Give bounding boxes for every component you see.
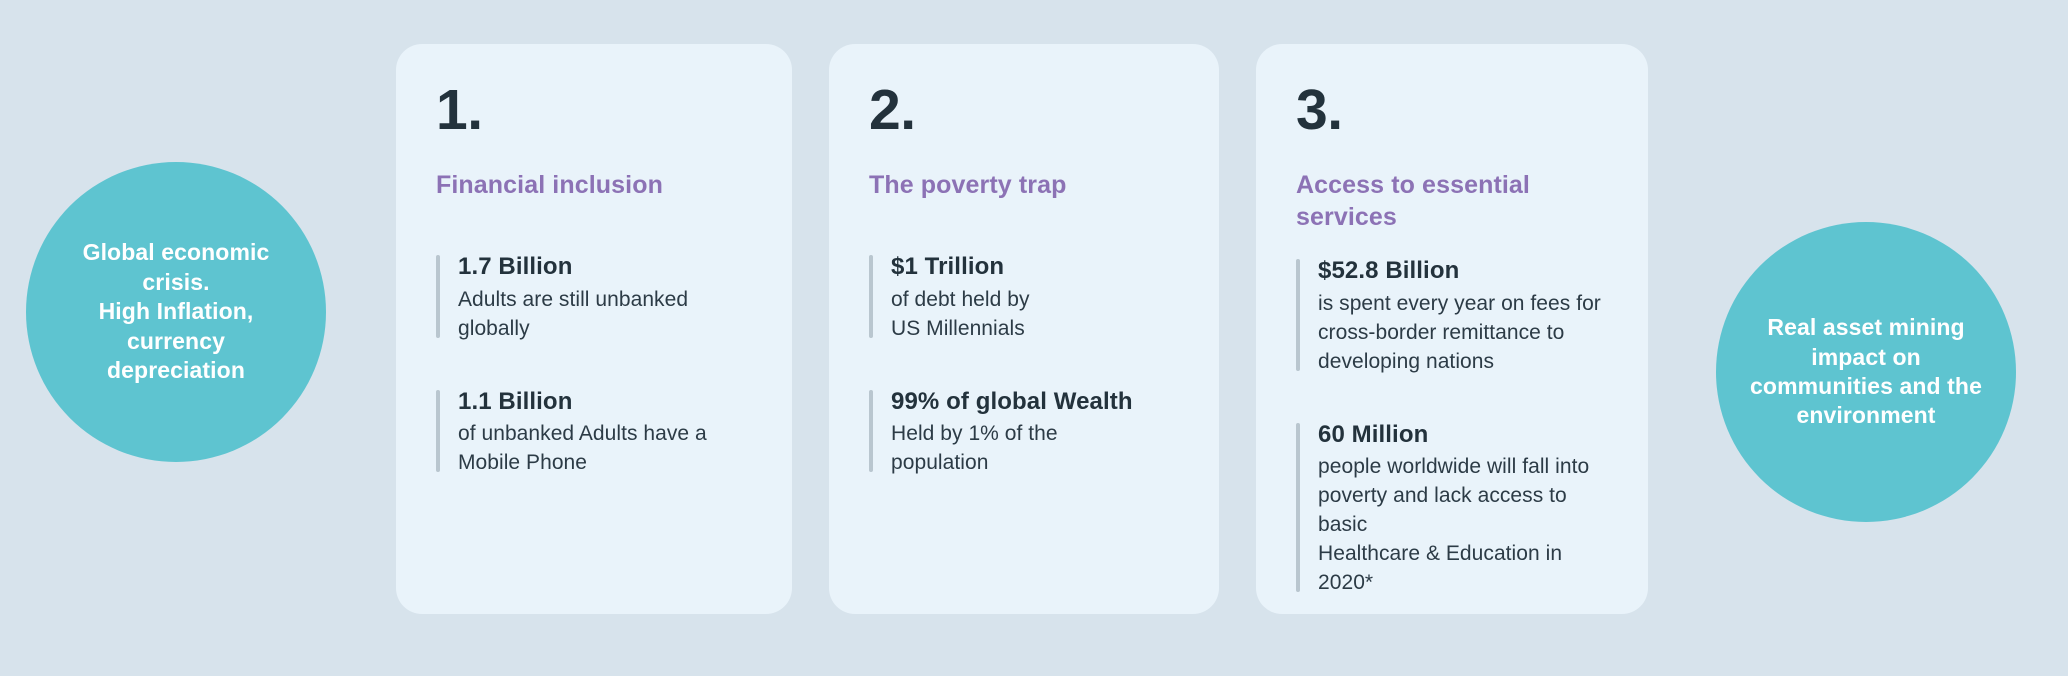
stat-value: 1.7 Billion	[458, 251, 752, 283]
stat-value: 60 Million	[1318, 419, 1608, 451]
card-access-essential-services: 3. Access to essential services $52.8 Bi…	[1256, 44, 1648, 614]
card-title: The poverty trap	[869, 169, 1179, 201]
stat-value: 1.1 Billion	[458, 386, 752, 418]
stat-description: of unbanked Adults have a Mobile Phone	[458, 420, 752, 478]
stat-item: 99% of global Wealth Held by 1% of the p…	[869, 386, 1179, 479]
card-number: 1.	[436, 82, 752, 139]
card-title: Access to essential services	[1296, 169, 1608, 233]
stat-description: of debt held by US Millennials	[891, 286, 1179, 344]
stat-value: $52.8 Billion	[1318, 255, 1608, 287]
stat-item: 1.1 Billion of unbanked Adults have a Mo…	[436, 386, 752, 479]
card-number: 2.	[869, 82, 1179, 139]
stat-cards-container: 1. Financial inclusion 1.7 Billion Adult…	[396, 44, 1648, 614]
left-circle-text: Global economic crisis. High Inflation, …	[60, 238, 292, 385]
right-impact-circle: Real asset mining impact on communities …	[1716, 222, 2016, 522]
right-circle-text: Real asset mining impact on communities …	[1738, 313, 1994, 431]
stat-value: 99% of global Wealth	[891, 386, 1179, 418]
stat-description: Adults are still unbanked globally	[458, 286, 752, 344]
stat-description: people worldwide will fall into poverty …	[1318, 453, 1608, 598]
card-financial-inclusion: 1. Financial inclusion 1.7 Billion Adult…	[396, 44, 792, 614]
stat-accent-bar	[869, 390, 873, 473]
stat-item: $1 Trillion of debt held by US Millennia…	[869, 251, 1179, 344]
stat-accent-bar	[1296, 423, 1300, 593]
stat-item: $52.8 Billion is spent every year on fee…	[1296, 255, 1608, 377]
stat-description: Held by 1% of the population	[891, 420, 1179, 478]
stat-description: is spent every year on fees for cross-bo…	[1318, 290, 1608, 377]
stat-accent-bar	[436, 255, 440, 338]
stat-accent-bar	[869, 255, 873, 338]
left-problem-circle: Global economic crisis. High Inflation, …	[26, 162, 326, 462]
card-poverty-trap: 2. The poverty trap $1 Trillion of debt …	[829, 44, 1219, 614]
stat-value: $1 Trillion	[891, 251, 1179, 283]
stat-item: 60 Million people worldwide will fall in…	[1296, 419, 1608, 599]
card-number: 3.	[1296, 82, 1608, 139]
stat-accent-bar	[436, 390, 440, 473]
stat-accent-bar	[1296, 259, 1300, 371]
infographic-root: Global economic crisis. High Inflation, …	[0, 0, 2068, 676]
stat-item: 1.7 Billion Adults are still unbanked gl…	[436, 251, 752, 344]
card-title: Financial inclusion	[436, 169, 752, 201]
